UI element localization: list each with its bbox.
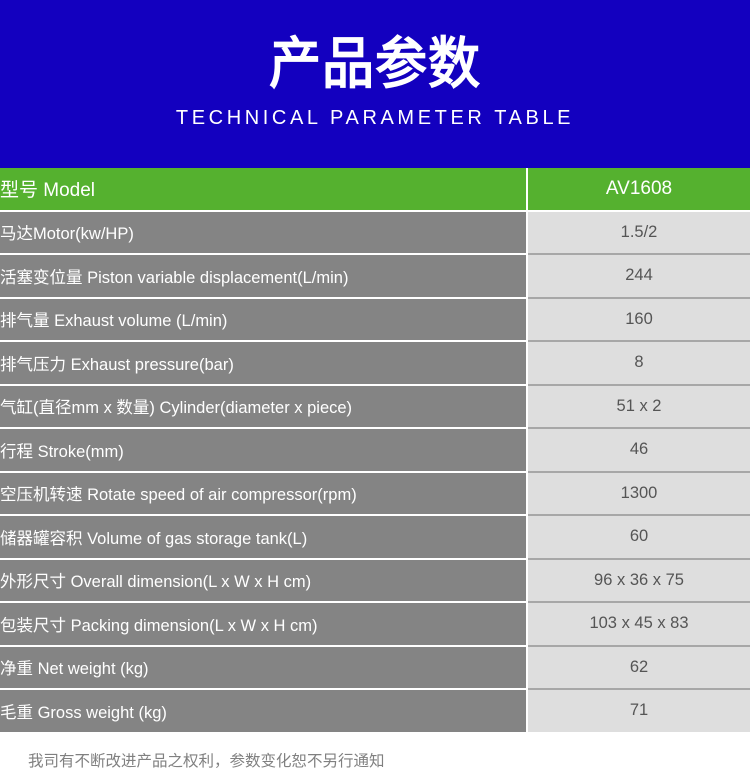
spec-value: 46 — [527, 428, 750, 472]
column-header-model-label: 型号 Model — [0, 168, 527, 211]
spec-value: 62 — [527, 646, 750, 690]
spec-label: 活塞变位量 Piston variable displacement(L/min… — [0, 254, 527, 298]
spec-value: 103 x 45 x 83 — [527, 602, 750, 646]
spec-label: 空压机转速 Rotate speed of air compressor(rpm… — [0, 472, 527, 516]
table-body: 马达Motor(kw/HP)1.5/2活塞变位量 Piston variable… — [0, 211, 750, 732]
spec-label: 马达Motor(kw/HP) — [0, 211, 527, 255]
table-header-row: 型号 Model AV1608 — [0, 168, 750, 211]
table-row: 活塞变位量 Piston variable displacement(L/min… — [0, 254, 750, 298]
table-row: 行程 Stroke(mm)46 — [0, 428, 750, 472]
table-row: 外形尺寸 Overall dimension(L x W x H cm)96 x… — [0, 559, 750, 603]
spec-label: 气缸(直径mm x 数量) Cylinder(diameter x piece) — [0, 385, 527, 429]
footer-note: 我司有不断改进产品之权利，参数变化恕不另行通知 — [0, 732, 750, 771]
spec-label: 排气量 Exhaust volume (L/min) — [0, 298, 527, 342]
spec-value: 1.5/2 — [527, 211, 750, 255]
spec-label: 毛重 Gross weight (kg) — [0, 689, 527, 732]
spec-value: 8 — [527, 341, 750, 385]
spec-label: 包装尺寸 Packing dimension(L x W x H cm) — [0, 602, 527, 646]
spec-value: 51 x 2 — [527, 385, 750, 429]
spec-label: 储器罐容积 Volume of gas storage tank(L) — [0, 515, 527, 559]
spec-value: 96 x 36 x 75 — [527, 559, 750, 603]
page-banner: 产品参数 TECHNICAL PARAMETER TABLE — [0, 0, 750, 168]
spec-value: 160 — [527, 298, 750, 342]
page-title: 产品参数 — [26, 34, 724, 96]
table-row: 毛重 Gross weight (kg)71 — [0, 689, 750, 732]
table-row: 包装尺寸 Packing dimension(L x W x H cm)103 … — [0, 602, 750, 646]
column-header-model-value: AV1608 — [527, 168, 750, 211]
spec-label: 排气压力 Exhaust pressure(bar) — [0, 341, 527, 385]
spec-label: 外形尺寸 Overall dimension(L x W x H cm) — [0, 559, 527, 603]
page-subtitle: TECHNICAL PARAMETER TABLE — [0, 106, 750, 130]
spec-value: 71 — [527, 689, 750, 732]
spec-label: 净重 Net weight (kg) — [0, 646, 527, 690]
spec-value: 1300 — [527, 472, 750, 516]
spec-value: 60 — [527, 515, 750, 559]
table-row: 空压机转速 Rotate speed of air compressor(rpm… — [0, 472, 750, 516]
spec-value: 244 — [527, 254, 750, 298]
specification-table: 型号 Model AV1608 马达Motor(kw/HP)1.5/2活塞变位量… — [0, 168, 750, 732]
table-row: 排气量 Exhaust volume (L/min)160 — [0, 298, 750, 342]
spec-label: 行程 Stroke(mm) — [0, 428, 527, 472]
table-row: 排气压力 Exhaust pressure(bar)8 — [0, 341, 750, 385]
table-row: 净重 Net weight (kg)62 — [0, 646, 750, 690]
table-row: 马达Motor(kw/HP)1.5/2 — [0, 211, 750, 255]
table-row: 储器罐容积 Volume of gas storage tank(L)60 — [0, 515, 750, 559]
table-row: 气缸(直径mm x 数量) Cylinder(diameter x piece)… — [0, 385, 750, 429]
